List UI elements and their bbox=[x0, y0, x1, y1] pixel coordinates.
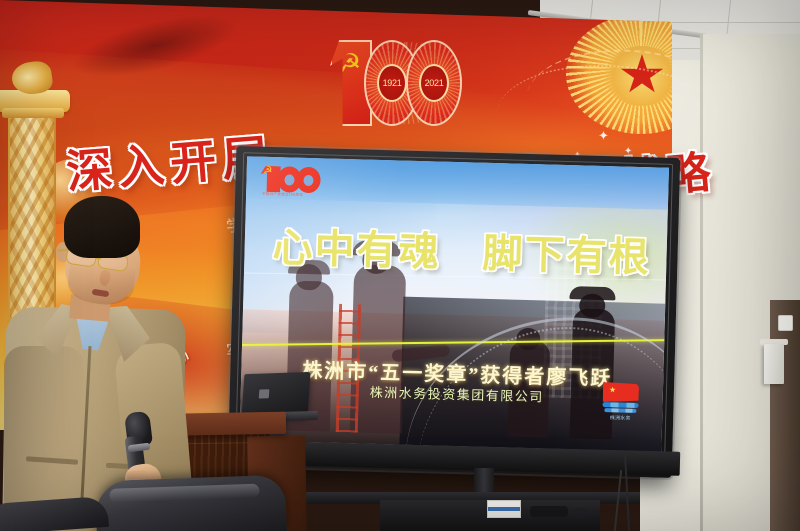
light-switch-plate[interactable] bbox=[778, 315, 793, 331]
laptop-logo bbox=[259, 389, 270, 398]
foreground-office-chair[interactable] bbox=[95, 475, 287, 531]
remote-control[interactable] bbox=[530, 506, 568, 517]
cpc-100-logo-small: ☭ 中国共产党成立100周年 bbox=[260, 162, 327, 198]
slide-title: 心中有魂 脚下有根 bbox=[266, 215, 657, 284]
logo-year-end: 2021 bbox=[419, 64, 449, 102]
logo-year-start: 1921 bbox=[377, 64, 407, 102]
water-group-flag-logo: ★ 株洲水务 bbox=[600, 382, 641, 421]
hard-hat-icon bbox=[569, 286, 615, 300]
foreground-office-chair[interactable] bbox=[0, 496, 109, 531]
cpc-100-logo: ☭ 1921 2021 bbox=[330, 24, 460, 130]
shelf-book[interactable] bbox=[487, 500, 521, 518]
flag-caption: 株洲水务 bbox=[600, 414, 640, 422]
hammer-sickle-icon: ☭ bbox=[263, 166, 273, 177]
hair bbox=[64, 196, 140, 258]
star-icon: ★ bbox=[609, 385, 616, 394]
wall-mounted-unit bbox=[764, 344, 784, 384]
wall-corner-dark-furniture bbox=[770, 300, 800, 531]
presentation-room-photo: ☭ 1921 2021 ✦ ✦ ✦ ✦ 深入开展 学 心 牢记使 战略 bbox=[0, 0, 800, 531]
slide-logo-caption: 中国共产党成立100周年 bbox=[262, 192, 303, 198]
interactive-flat-panel-tv[interactable]: ☭ 中国共产党成立100周年 心中有魂 脚下有根 株洲市“五一奖章”获得者廖飞跃… bbox=[228, 146, 680, 478]
dove-icon: ✦ bbox=[598, 128, 609, 144]
wall-corner-edge bbox=[700, 34, 703, 531]
red-star-emblem bbox=[556, 10, 672, 160]
small-device[interactable] bbox=[572, 508, 590, 518]
